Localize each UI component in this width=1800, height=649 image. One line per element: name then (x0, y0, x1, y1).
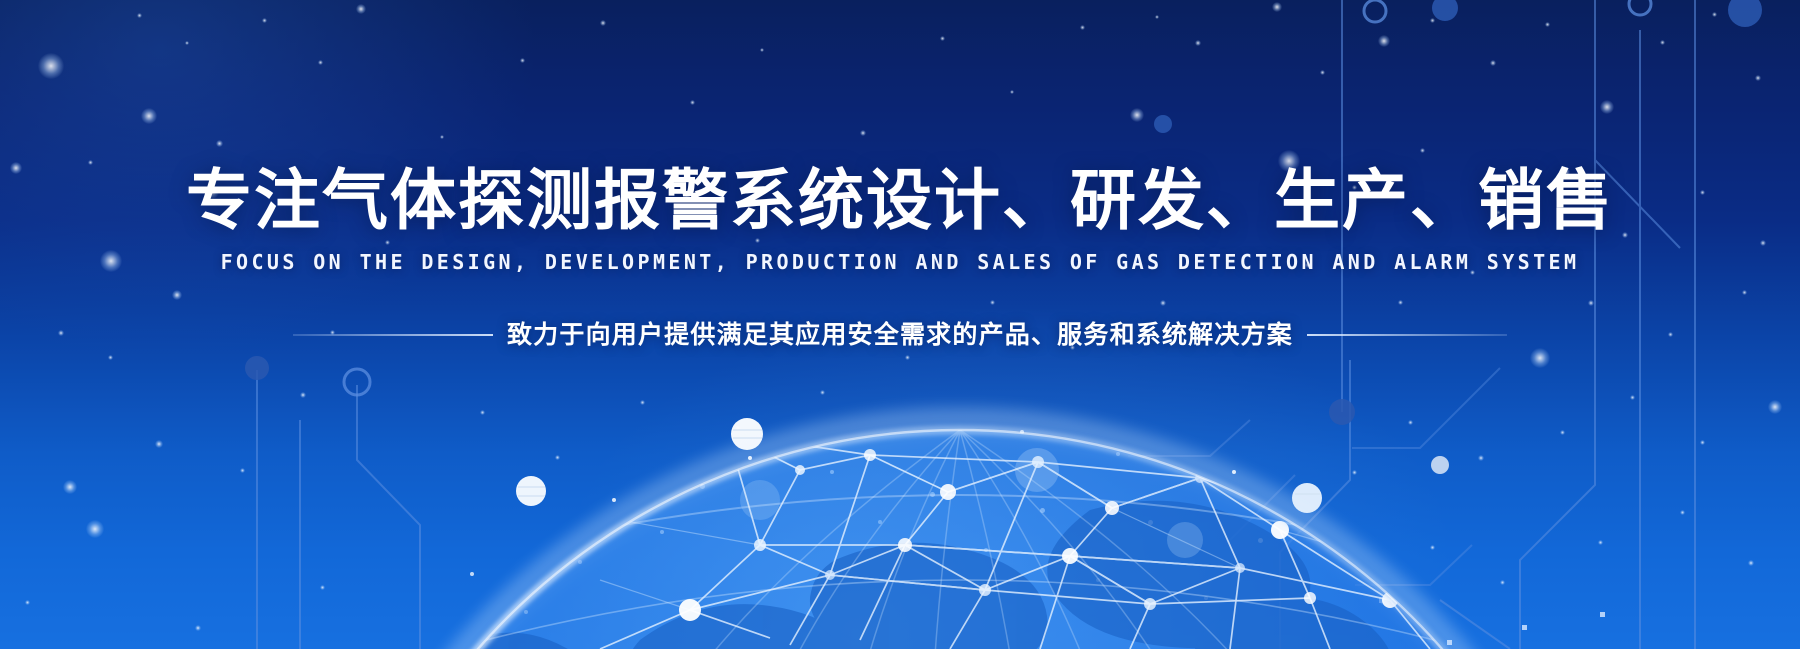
globe-longitudes (565, 430, 1395, 649)
globe-body (320, 425, 1600, 649)
circuit-node-dots (245, 0, 1762, 425)
divider-left (293, 334, 493, 336)
globe-location-pins (516, 418, 1449, 513)
starfield (0, 0, 1800, 649)
globe-network-links (600, 434, 1456, 649)
globe-latitudes (320, 495, 1600, 649)
circuit-square-pads (1379, 598, 1605, 645)
globe-network-nodes (679, 425, 1461, 621)
hero-banner: 专注气体探测报警系统设计、研发、生产、销售 FOCUS ON THE DESIG… (0, 0, 1800, 649)
divider-right (1307, 334, 1507, 336)
globe-continents (445, 501, 1393, 649)
wireframe-globe (0, 0, 1800, 649)
globe-halo (314, 424, 1606, 649)
tagline-row: 致力于向用户提供满足其应用安全需求的产品、服务和系统解决方案 (0, 305, 1800, 365)
page-subtitle: FOCUS ON THE DESIGN, DEVELOPMENT, PRODUC… (0, 248, 1800, 276)
globe-marker-blobs (740, 448, 1326, 558)
circuit-trace-svg (0, 0, 1800, 649)
tagline-text: 致力于向用户提供满足其应用安全需求的产品、服务和系统解决方案 (493, 318, 1307, 352)
page-title: 专注气体探测报警系统设计、研发、生产、销售 (0, 160, 1800, 240)
globe-network-links-secondary (600, 434, 1456, 610)
globe-svg (0, 0, 1800, 649)
globe-rim (308, 418, 1612, 649)
background-glow-top-left (0, 0, 540, 360)
circuit-trace-decoration (0, 0, 1800, 649)
background-glow-center (560, 300, 1460, 649)
circuit-node-rings (344, 0, 1651, 395)
